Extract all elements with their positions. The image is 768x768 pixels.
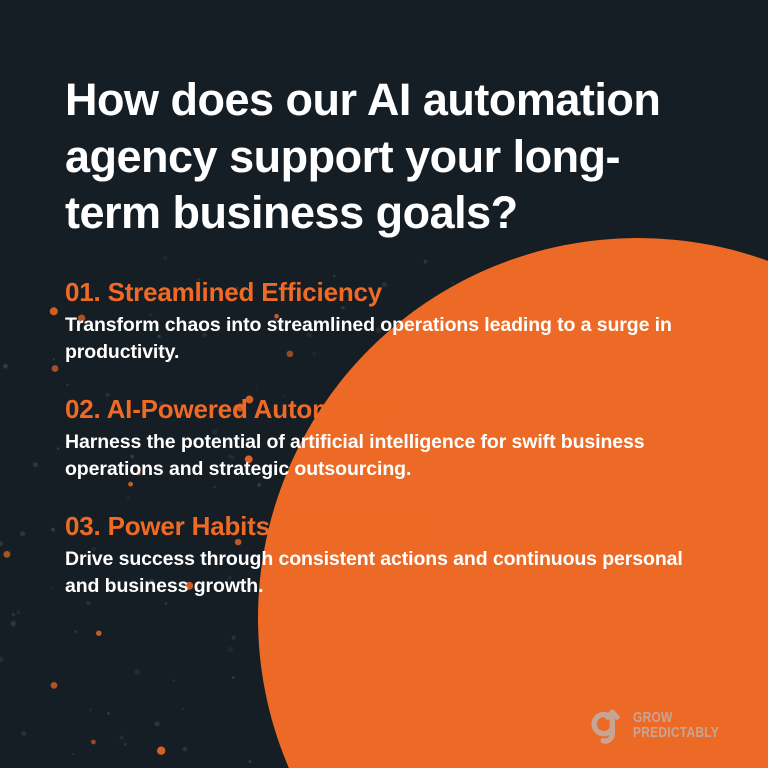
benefit-title-01: 01. Streamlined Efficiency (65, 277, 710, 308)
list-item: 01. Streamlined Efficiency Transform cha… (65, 277, 710, 366)
benefit-body-03: Drive success through consistent actions… (65, 546, 710, 600)
benefit-title-03: 03. Power Habits for Success (65, 511, 710, 542)
benefit-body-02: Harness the potential of artificial inte… (65, 429, 710, 483)
logo-line-predictably: PREDICTABLY (633, 726, 719, 741)
poster-content: How does our AI automation agency suppor… (0, 0, 768, 768)
benefit-title-02: 02. AI-Powered Automation (65, 394, 710, 425)
benefits-list: 01. Streamlined Efficiency Transform cha… (65, 277, 710, 600)
page-title: How does our AI automation agency suppor… (65, 0, 710, 242)
promo-poster: How does our AI automation agency suppor… (0, 0, 768, 768)
list-item: 03. Power Habits for Success Drive succe… (65, 511, 710, 600)
benefit-body-01: Transform chaos into streamlined operati… (65, 312, 710, 366)
g-with-up-arrow-icon (586, 706, 626, 746)
logo-wordmark: GROW PREDICTABLY (633, 711, 740, 740)
list-item: 02. AI-Powered Automation Harness the po… (65, 394, 710, 483)
brand-logo: GROW PREDICTABLY (586, 706, 740, 746)
